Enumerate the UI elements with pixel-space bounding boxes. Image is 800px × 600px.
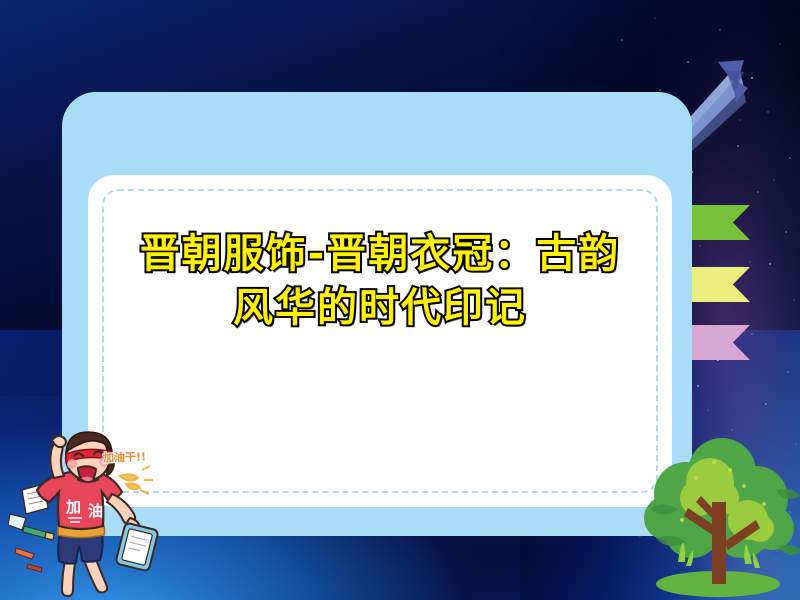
slide-canvas: 晋朝服饰-晋朝衣冠：古韵 风华的时代印记 [0,0,800,600]
svg-text:加: 加 [65,498,81,516]
inner-white-card [88,175,672,507]
slide-title: 晋朝服饰-晋朝衣冠：古韵 风华的时代印记 [110,228,650,335]
tree-icon [626,432,800,600]
svg-text:油: 油 [88,502,103,520]
title-line-1: 晋朝服饰-晋朝衣冠：古韵 [110,228,650,282]
cheer-speech-text: 加油干!! [103,448,147,465]
title-line-2: 风华的时代印记 [110,282,650,336]
